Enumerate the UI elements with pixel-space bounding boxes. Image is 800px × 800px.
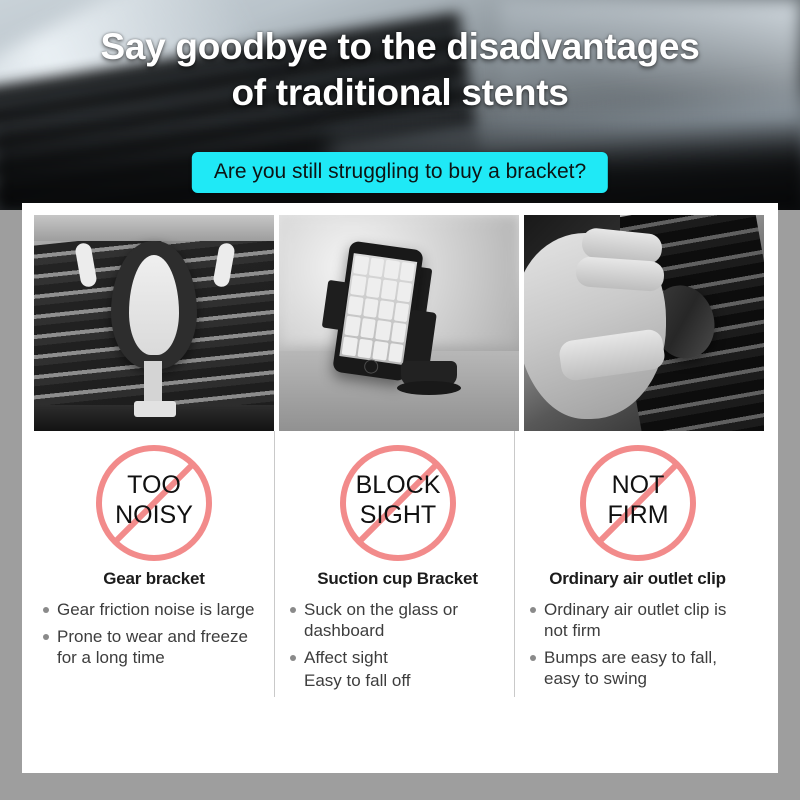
- finger-middle: [575, 256, 665, 292]
- page-title-line-2: of traditional stents: [0, 70, 800, 116]
- comparison-columns: TOO NOISY Gear bracket Gear friction noi…: [22, 431, 778, 697]
- gravity-vent-clip-photo: [34, 215, 274, 431]
- list-item: Suck on the glass or dashboard: [289, 599, 508, 641]
- prohibition-badge-2: BLOCK SIGHT: [283, 441, 512, 565]
- column-heading: Gear bracket: [36, 569, 272, 589]
- comparison-card: TOO NOISY Gear bracket Gear friction noi…: [22, 203, 778, 773]
- disadvantage-list: Suck on the glass or dashboard Affect si…: [283, 599, 512, 691]
- column-ordinary-air-outlet-clip: NOT FIRM Ordinary air outlet clip Ordina…: [514, 431, 754, 697]
- badge-line-2: NOISY: [115, 501, 193, 529]
- disadvantage-list: Ordinary air outlet clip is not firm Bum…: [523, 599, 752, 689]
- infographic-page: Say goodbye to the disadvantages of trad…: [0, 0, 800, 800]
- list-item: Gear friction noise is large: [42, 599, 268, 620]
- list-item: Easy to fall off: [289, 670, 508, 691]
- column-suction-cup-bracket: BLOCK SIGHT Suction cup Bracket Suck on …: [274, 431, 514, 697]
- prohibition-badge-1: TOO NOISY: [36, 441, 272, 565]
- page-title: Say goodbye to the disadvantages of trad…: [0, 24, 800, 116]
- page-title-line-1: Say goodbye to the disadvantages: [0, 24, 800, 70]
- badge-line-2: FIRM: [607, 501, 668, 529]
- badge-line-1: NOT: [611, 471, 664, 499]
- list-item: Bumps are easy to fall, easy to swing: [529, 647, 748, 689]
- list-item: Prone to wear and freeze for a long time: [42, 626, 268, 668]
- suction-cup-cradle-photo: [279, 215, 519, 431]
- dashboard-top-edge: [34, 215, 274, 241]
- badge-line-2: SIGHT: [359, 501, 435, 529]
- suction-cup-ring: [397, 381, 461, 395]
- list-item: Ordinary air outlet clip is not firm: [529, 599, 748, 641]
- column-gear-bracket: TOO NOISY Gear bracket Gear friction noi…: [34, 431, 274, 697]
- badge-line-1: TOO: [127, 471, 181, 499]
- prohibition-badge-3: NOT FIRM: [523, 441, 752, 565]
- no-entry-icon: TOO NOISY: [87, 441, 221, 565]
- magnetic-disc-photo: [524, 215, 764, 431]
- photo-row: [22, 203, 778, 431]
- column-heading: Suction cup Bracket: [283, 569, 512, 589]
- no-entry-icon: NOT FIRM: [571, 441, 705, 565]
- column-heading: Ordinary air outlet clip: [523, 569, 752, 589]
- list-item: Affect sight: [289, 647, 508, 668]
- clip-foot: [134, 401, 176, 417]
- badge-line-1: BLOCK: [355, 471, 440, 499]
- disadvantage-list: Gear friction noise is large Prone to we…: [36, 599, 272, 668]
- no-entry-icon: BLOCK SIGHT: [331, 441, 465, 565]
- subtitle-banner: Are you still struggling to buy a bracke…: [192, 152, 608, 193]
